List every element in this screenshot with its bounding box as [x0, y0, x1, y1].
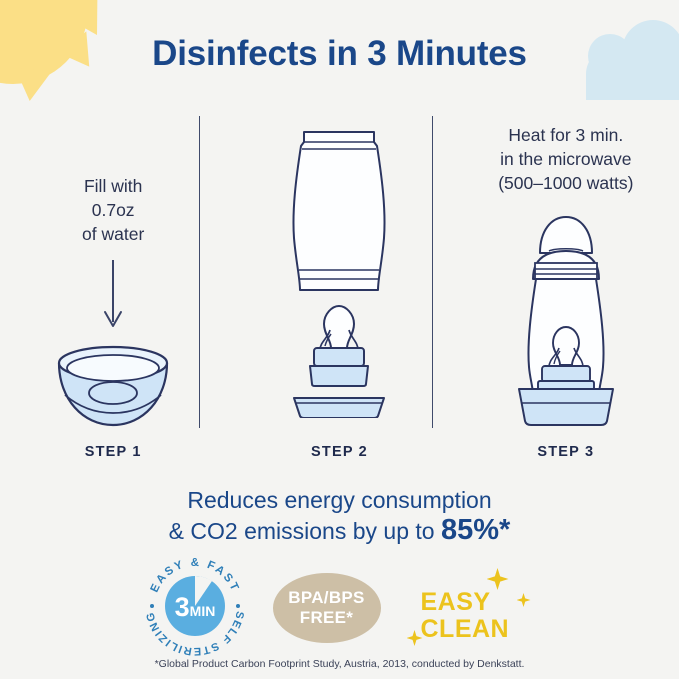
easy-clean-line-1: EASY	[421, 589, 510, 616]
step-3-label: STEP 3	[537, 444, 594, 460]
step-2-label: STEP 2	[311, 444, 368, 460]
caption-line: (500–1000 watts)	[498, 171, 633, 195]
water-bowl-icon	[49, 337, 177, 438]
step-column-1: Fill with 0.7oz of water	[0, 112, 226, 460]
footnote: *Global Product Carbon Footprint Study, …	[0, 658, 679, 670]
page-title: Disinfects in 3 Minutes	[0, 34, 679, 74]
infographic-poster: Disinfects in 3 Minutes Fill with 0.7oz …	[0, 0, 679, 679]
caption-line: Heat for 3 min.	[498, 123, 633, 147]
eco-claim-line-2: & CO2 emissions by up to 85%*	[0, 515, 679, 546]
sparkle-icon	[517, 593, 531, 607]
eco-claim-prefix: & CO2 emissions by up to	[169, 518, 441, 544]
down-arrow-icon	[102, 260, 124, 337]
easy-clean-badge: EASY CLEAN	[407, 565, 537, 651]
self-sterilizing-badge: 3MIN EASY & FAST SELF STERILIZING	[143, 554, 247, 663]
step-3-caption: Heat for 3 min. in the microwave (500–10…	[498, 123, 633, 195]
badge-row: 3MIN EASY & FAST SELF STERILIZING BPA/BP…	[0, 562, 679, 654]
steps-row: Fill with 0.7oz of water	[0, 112, 679, 460]
eco-claim-line-1: Reduces energy consumption	[0, 485, 679, 515]
badge-minutes-number: 3	[174, 592, 189, 622]
step-1-caption: Fill with 0.7oz of water	[82, 174, 144, 246]
badge-minutes-unit: MIN	[189, 603, 215, 619]
eco-claim-asterisk: *	[499, 514, 510, 546]
step-column-2: STEP 2	[226, 112, 452, 460]
easy-clean-text: EASY CLEAN	[421, 589, 510, 643]
caption-line: in the microwave	[498, 147, 633, 171]
step-1-label: STEP 1	[85, 444, 142, 460]
bpa-free-badge: BPA/BPS FREE*	[273, 573, 381, 643]
bpa-free-pill: BPA/BPS FREE*	[273, 573, 381, 643]
eco-claim-percent: 85%	[441, 514, 499, 546]
step-column-3: Heat for 3 min. in the microwave (500–10…	[453, 112, 679, 460]
easy-clean-line-2: CLEAN	[421, 616, 510, 643]
assembled-bottle-icon	[503, 207, 629, 434]
caption-line: 0.7oz	[82, 198, 144, 222]
eco-claim: Reduces energy consumption & CO2 emissio…	[0, 485, 679, 546]
bpa-free-line-2: FREE*	[300, 608, 353, 628]
caption-line: Fill with	[82, 174, 144, 198]
bpa-free-line-1: BPA/BPS	[288, 588, 364, 608]
caption-line: of water	[82, 222, 144, 246]
disassembled-bottle-icon	[274, 118, 404, 423]
sparkle-icon	[487, 568, 509, 590]
